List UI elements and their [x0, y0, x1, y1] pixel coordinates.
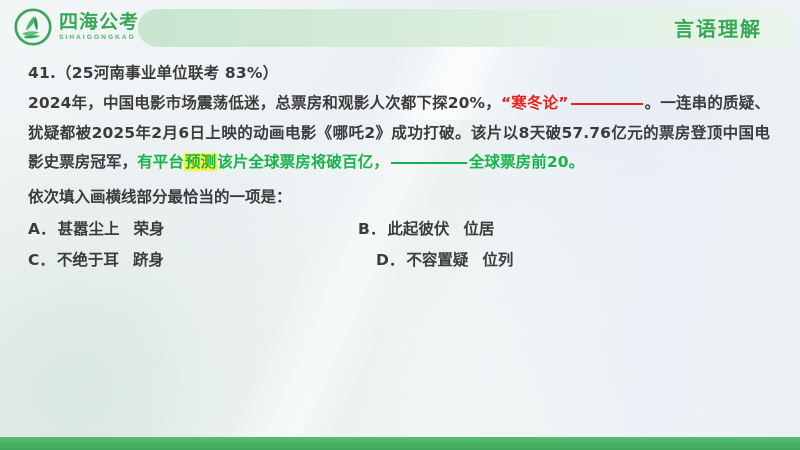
passage-green-period: 。 — [569, 153, 585, 171]
option-d[interactable]: D．不容置疑位列 — [376, 245, 706, 276]
option-a-word2: 荣身 — [134, 220, 165, 238]
option-d-label: D． — [376, 251, 404, 269]
brand-logo: 四海公考 SIHAIGONGKAO — [14, 8, 139, 46]
option-a-word1: 甚嚣尘上 — [58, 220, 120, 238]
passage-red-phrase: “寒冬论” — [501, 94, 569, 112]
option-c-word1: 不绝于耳 — [57, 251, 119, 269]
options-row-1: A．甚嚣尘上荣身 B．此起彼伏位居 — [28, 214, 776, 245]
brand-text: 四海公考 SIHAIGONGKAO — [59, 13, 139, 42]
slide-canvas: 四海公考 SIHAIGONGKAO 言语理解 41.（25河南事业单位联考 83… — [0, 0, 800, 450]
passage-segment-1: 2024年，中国电影市场震荡低迷，总票房和观影人次都下探20%， — [28, 94, 501, 112]
brand-subtitle: SIHAIGONGKAO — [59, 35, 139, 42]
passage-highlighted-phrase: 预测 — [184, 153, 217, 171]
question-content: 41.（25河南事业单位联考 83%） 2024年，中国电影市场震荡低迷，总票房… — [28, 60, 776, 276]
option-c-label: C． — [28, 251, 55, 269]
passage-green-segment-3: 全球票房前20 — [469, 153, 569, 171]
option-b[interactable]: B．此起彼伏位居 — [358, 214, 688, 245]
leaf-wave-circle-logo-icon — [14, 8, 52, 46]
passage-green-segment-1: 有平台 — [137, 153, 184, 171]
option-a[interactable]: A．甚嚣尘上荣身 — [28, 214, 358, 245]
footer-bar — [0, 437, 800, 450]
option-a-label: A． — [28, 220, 56, 238]
option-c[interactable]: C．不绝于耳跻身 — [28, 245, 376, 276]
slide-header: 四海公考 SIHAIGONGKAO 言语理解 — [0, 0, 800, 57]
question-passage: 2024年，中国电影市场震荡低迷，总票房和观影人次都下探20%，“寒冬论”。一连… — [28, 89, 770, 178]
passage-green-segment-2: 该片全球票房将破百亿， — [217, 153, 389, 171]
answer-blank-2 — [391, 162, 467, 164]
question-number: 41.（25河南事业单位联考 83%） — [28, 60, 776, 86]
question-prompt: 依次填入画横线部分最恰当的一项是： — [28, 183, 776, 212]
option-c-word2: 跻身 — [133, 251, 164, 269]
option-b-label: B． — [358, 220, 385, 238]
option-b-word1: 此起彼伏 — [387, 220, 449, 238]
option-b-word2: 位居 — [463, 220, 494, 238]
section-tag: 言语理解 — [674, 13, 762, 42]
answer-blank-1 — [571, 103, 643, 105]
option-d-word1: 不容置疑 — [406, 251, 468, 269]
brand-title: 四海公考 — [59, 13, 139, 32]
options-list: A．甚嚣尘上荣身 B．此起彼伏位居 C．不绝于耳跻身 D．不容置疑位列 — [28, 214, 776, 276]
option-d-word2: 位列 — [482, 251, 513, 269]
options-row-2: C．不绝于耳跻身 D．不容置疑位列 — [28, 245, 776, 276]
